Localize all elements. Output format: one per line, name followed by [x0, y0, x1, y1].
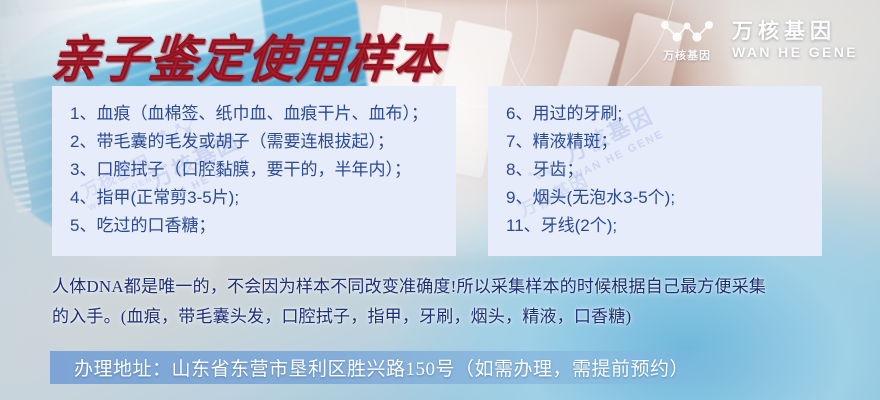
list-item: 5、吃过的口香糖；: [70, 212, 456, 240]
address-bar-text: 办理地址：山东省东营市垦利区胜兴路150号（如需办理，需提前预约）: [74, 354, 689, 381]
list-item: 11、牙线(2个);: [506, 212, 822, 240]
note-line-1: 人体DNA都是唯一的，不会因为样本不同改变准确度!所以采集样本的时候根据自己最方…: [52, 272, 842, 302]
list-item: 9、烟头(无泡水3-5个);: [506, 184, 822, 212]
brand-wordmark: 万核基因 WAN HE GENE: [732, 20, 858, 61]
sample-list-panels: 万核基因 WAN HE GENE 万核基因 WAN HE GENE 1、血痕（血…: [52, 86, 822, 256]
brand-logo: 万核基因 万核基因 WAN HE GENE: [658, 18, 858, 63]
brand-mark-label: 万核基因: [663, 47, 711, 63]
sample-list-right: 6、用过的牙刷; 7、精液精斑； 8、牙齿； 9、烟头(无泡水3-5个); 11…: [506, 100, 822, 240]
brand-name-cn: 万核基因: [732, 20, 858, 44]
dna-molecule-icon: [658, 18, 716, 44]
note-line-2: 的入手。(血痕，带毛囊头发，口腔拭子，指甲，牙刷，烟头，精液，口香糖): [52, 302, 842, 332]
list-item: 4、指甲(正常剪3-5片);: [70, 184, 456, 212]
list-item: 6、用过的牙刷;: [506, 100, 822, 128]
sample-list-panel-left: 万核基因 WAN HE GENE 万核基因 WAN HE GENE 1、血痕（血…: [52, 86, 456, 256]
brand-mark: 万核基因: [658, 18, 716, 63]
sample-list-panel-right: 万核基因 WAN HE GENE 万: [488, 86, 822, 256]
address-bar: 办理地址：山东省东营市垦利区胜兴路150号（如需办理，需提前预约）: [50, 351, 792, 384]
page-title: 亲子鉴定使用样本: [48, 18, 448, 91]
list-item: 2、带毛囊的毛发或胡子（需要连根拔起）；: [70, 128, 456, 156]
list-item: 1、血痕（血棉签、纸巾血、血痕干片、血布）；: [70, 100, 456, 128]
note-paragraph: 人体DNA都是唯一的，不会因为样本不同改变准确度!所以采集样本的时候根据自己最方…: [52, 272, 842, 332]
list-item: 7、精液精斑；: [506, 128, 822, 156]
list-item: 8、牙齿；: [506, 156, 822, 184]
sample-list-left: 1、血痕（血棉签、纸巾血、血痕干片、血布）； 2、带毛囊的毛发或胡子（需要连根拔…: [70, 100, 456, 240]
brand-name-en: WAN HE GENE: [732, 45, 858, 60]
poster-canvas: 亲子鉴定使用样本: [0, 0, 880, 400]
list-item: 3、口腔拭子（口腔黏膜，要干的，半年内）；: [70, 156, 456, 184]
